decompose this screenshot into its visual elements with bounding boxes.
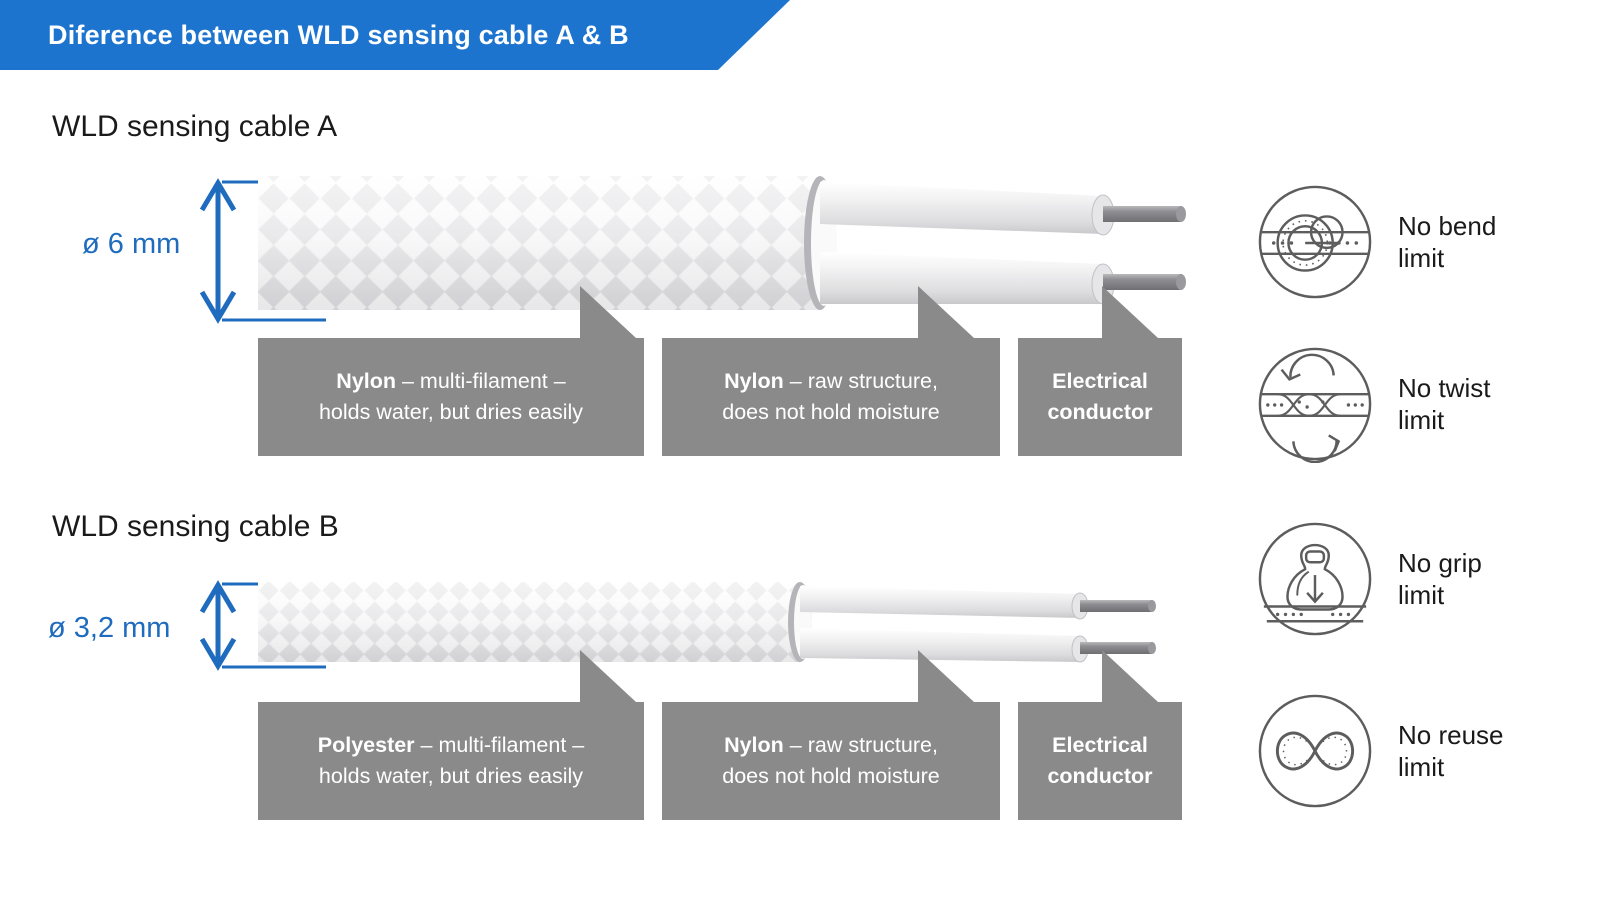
cable-illustration-cable-a xyxy=(258,168,1188,328)
feature-no-bend-limit: No bend limit xyxy=(1256,183,1496,301)
callout-text: Nylon – raw structure, does not hold moi… xyxy=(722,730,940,791)
title-banner: Diference between WLD sensing cable A & … xyxy=(0,0,790,70)
callout-text: Nylon – raw structure, does not hold moi… xyxy=(722,366,940,427)
callout-line2: conductor xyxy=(1047,400,1152,424)
callout-line2: conductor xyxy=(1047,764,1152,788)
feature-no-twist-limit: No twist limit xyxy=(1256,345,1490,463)
callout-bold-term: Nylon xyxy=(724,733,784,757)
callout-bold-term: Electrical xyxy=(1052,369,1148,393)
callout-line2: holds water, but dries easily xyxy=(319,764,583,788)
callout-inner-structure-cable-a: Nylon – raw structure, does not hold moi… xyxy=(662,338,1000,456)
callout-braid-material-cable-a: Nylon – multi-filament – holds water, bu… xyxy=(258,338,644,456)
callout-line2: does not hold moisture xyxy=(722,764,940,788)
feature-no-reuse-limit: No reuse limit xyxy=(1256,692,1504,810)
feature-label: No grip limit xyxy=(1398,547,1482,612)
callout-rest: – multi-filament – xyxy=(415,733,585,757)
knot-bend-icon xyxy=(1256,183,1374,301)
diameter-label-cable-a: ø 6 mm xyxy=(82,228,180,261)
callout-rest: – raw structure, xyxy=(784,733,938,757)
callout-bold-term: Nylon xyxy=(724,369,784,393)
callout-bold-term: Polyester xyxy=(318,733,415,757)
kettlebell-grip-icon xyxy=(1256,520,1374,638)
section-heading-cable-b: WLD sensing cable B xyxy=(52,510,339,544)
callout-rest: – multi-filament – xyxy=(396,369,566,393)
section-heading-cable-a: WLD sensing cable A xyxy=(52,110,337,144)
callout-rest: – raw structure, xyxy=(784,369,938,393)
callout-text: Electrical conductor xyxy=(1047,730,1152,791)
twist-arrows-icon xyxy=(1256,345,1374,463)
feature-label: No bend limit xyxy=(1398,210,1496,275)
feature-label: No twist limit xyxy=(1398,372,1490,437)
callout-bold-term: Nylon xyxy=(336,369,396,393)
diameter-label-cable-b: ø 3,2 mm xyxy=(48,612,170,645)
callout-text: Nylon – multi-filament – holds water, bu… xyxy=(319,366,583,427)
callout-line2: holds water, but dries easily xyxy=(319,400,583,424)
callout-inner-structure-cable-b: Nylon – raw structure, does not hold moi… xyxy=(662,702,1000,820)
cable-illustration-cable-b xyxy=(258,570,1188,680)
callout-line2: does not hold moisture xyxy=(722,400,940,424)
callout-text: Polyester – multi-filament – holds water… xyxy=(318,730,584,791)
callout-text: Electrical conductor xyxy=(1047,366,1152,427)
callout-bold-term: Electrical xyxy=(1052,733,1148,757)
feature-no-grip-limit: No grip limit xyxy=(1256,520,1482,638)
feature-label: No reuse limit xyxy=(1398,719,1504,784)
banner-title: Diference between WLD sensing cable A & … xyxy=(48,20,629,51)
callout-conductor-cable-a: Electrical conductor xyxy=(1018,338,1182,456)
callout-braid-material-cable-b: Polyester – multi-filament – holds water… xyxy=(258,702,644,820)
callout-conductor-cable-b: Electrical conductor xyxy=(1018,702,1182,820)
infinity-reuse-icon xyxy=(1256,692,1374,810)
